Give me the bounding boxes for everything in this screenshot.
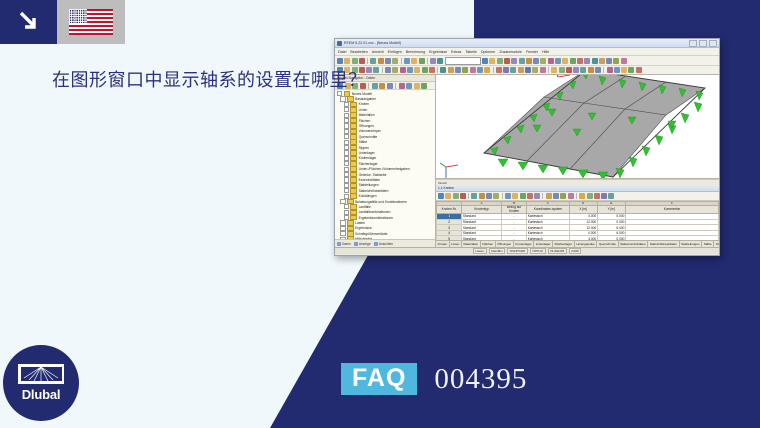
folder-icon: [350, 204, 357, 210]
tree-node-label: Flächen: [359, 119, 371, 123]
toolbar-icon[interactable]: [577, 58, 583, 64]
toolbar-icon[interactable]: [621, 67, 627, 73]
table-tab[interactable]: Stabnichtlinearitäten: [648, 241, 679, 247]
tree-node-label: Lastfallkombinationen: [359, 210, 391, 214]
table-tab[interactable]: Liniengelenke: [575, 241, 598, 247]
close-button[interactable]: [709, 40, 717, 47]
slide-canvas: 在图形窗口中显示轴系的设置在哪里？ RFEM 5.22.01.xxx - [Ne…: [0, 0, 760, 428]
tree-node-label: Basisangaben: [355, 97, 376, 101]
toolbar-icon[interactable]: [553, 193, 559, 199]
tree-node-label: Stabteilungen: [359, 183, 379, 187]
toolbar-icon[interactable]: [559, 67, 565, 73]
toolbar-icon[interactable]: [548, 58, 554, 64]
toolbar-icon[interactable]: [504, 58, 510, 64]
toolbar-icon[interactable]: [534, 193, 540, 199]
tree-node-label: Öffnungen: [359, 124, 374, 128]
table-column-header[interactable]: Kommentar: [625, 206, 718, 214]
tree-node-label: Querschnitte: [359, 135, 378, 139]
tree-node-label: Lasten: [355, 221, 365, 225]
logo-bar-bottom: [18, 381, 64, 385]
arrow-down-right-icon: [0, 0, 57, 44]
navigator-tab-ansichten[interactable]: Ansichten: [374, 242, 393, 246]
toolbar-icon[interactable]: [352, 58, 358, 64]
toolbar-icon[interactable]: [579, 193, 585, 199]
toolbar-icon[interactable]: [379, 83, 385, 89]
toolbar-icon[interactable]: [520, 193, 526, 199]
menu-item[interactable]: Datei: [338, 50, 346, 54]
toolbar-icon[interactable]: [533, 58, 539, 64]
table-tab[interactable]: Öffnungen: [496, 241, 514, 247]
toolbar-separator: [603, 67, 604, 73]
statusbar-item[interactable]: Max/Min: [489, 248, 505, 255]
toolbar-separator: [493, 67, 494, 73]
flag-canton: [69, 9, 87, 23]
minimize-button[interactable]: [689, 40, 697, 47]
toolbar-separator: [382, 67, 383, 73]
tree-node-label: Rippen: [359, 146, 369, 150]
toolbar-icon[interactable]: [486, 193, 492, 199]
toolbar-separator: [367, 58, 368, 64]
table-column-header[interactable]: Knotentyp: [462, 206, 501, 214]
tree-node-label: Knicklängen: [359, 194, 377, 198]
toolbar-separator: [401, 58, 402, 64]
work-column: Modell 1.1 Knoten ABCDEFKnoten Nr.Knoten…: [436, 75, 719, 247]
toolbar-icon[interactable]: [595, 67, 601, 73]
slab-model-3d: [436, 75, 718, 179]
global-axis-symbol: [440, 163, 458, 179]
toolbar-icon[interactable]: [422, 67, 428, 73]
toolbar-icon[interactable]: [479, 193, 485, 199]
toolbar-icon[interactable]: [407, 67, 413, 73]
tree-node-label: Flächenlager: [359, 162, 378, 166]
table-scroll-area[interactable]: ABCDEFKnoten Nr.KnotentypBezug auf Knote…: [436, 201, 719, 240]
toolbar-icon[interactable]: [453, 193, 459, 199]
toolbar-icon[interactable]: [510, 67, 516, 73]
table-tab[interactable]: Querschnitte: [597, 241, 618, 247]
dlubal-logo: Dlubal: [3, 345, 79, 421]
toolbar-icon[interactable]: [385, 58, 391, 64]
usa-flag-icon: [57, 0, 125, 44]
table-tab[interactable]: Knoten: [436, 241, 450, 247]
toolbar-icon[interactable]: [594, 193, 600, 199]
tree-node-label: Ergebniskombinationen: [359, 216, 393, 220]
toolbar-icon[interactable]: [484, 67, 490, 73]
menu-item[interactable]: Extras: [451, 50, 461, 54]
toolbar-icon[interactable]: [505, 193, 511, 199]
flag-graphic: [69, 9, 113, 35]
toolbar-icon[interactable]: [526, 58, 532, 64]
toolbar-icon[interactable]: [366, 67, 372, 73]
toolbar-icon[interactable]: [392, 58, 398, 64]
project-navigator-panel: Projekt-Navigator - Daten Neues ModellBa…: [335, 75, 436, 247]
table-column-header[interactable]: Koordinaten-system: [527, 206, 569, 214]
table-column-header[interactable]: Y [m]: [597, 206, 625, 214]
toolbar-separator: [576, 193, 577, 199]
tree-node-label: Schnittgrößenverläufe: [355, 232, 387, 236]
tree-node-label: Linienlager: [359, 151, 375, 155]
toolbar-icon[interactable]: [414, 83, 420, 89]
toolbar-icon[interactable]: [562, 58, 568, 64]
toolbar-icon[interactable]: [378, 58, 384, 64]
app-title-text: RFEM 5.22.01.xxx - [Neues Modell]: [344, 41, 689, 45]
app-toolbar-primary[interactable]: [335, 56, 719, 66]
toolbar-icon[interactable]: [406, 83, 412, 89]
menu-item[interactable]: Ansicht: [372, 50, 384, 54]
toolbar-icon[interactable]: [588, 67, 594, 73]
statusbar-item[interactable]: SNAP/GRD: [507, 248, 528, 255]
toolbar-icon[interactable]: [621, 58, 627, 64]
toolbar-separator: [427, 58, 428, 64]
toolbar-icon[interactable]: [359, 58, 365, 64]
rfem-application-window: RFEM 5.22.01.xxx - [Neues Modell] Datei …: [334, 38, 720, 256]
tree-node-label: Materialien: [359, 113, 375, 117]
table-tabs[interactable]: KnotenLinienMaterialienFlächenÖffnungenK…: [436, 240, 719, 247]
table-toolbar[interactable]: [436, 192, 719, 201]
toolbar-icon[interactable]: [370, 58, 376, 64]
app-body: Projekt-Navigator - Daten Neues ModellBa…: [335, 75, 719, 247]
faq-badge-row: FAQ 004395: [341, 363, 527, 395]
toolbar-icon[interactable]: [511, 58, 517, 64]
menu-item[interactable]: Hilfe: [542, 50, 549, 54]
toolbar-icon[interactable]: [399, 83, 405, 89]
toolbar-icon[interactable]: [512, 193, 518, 199]
toolbar-icon[interactable]: [497, 58, 503, 64]
toolbar-icon[interactable]: [551, 67, 557, 73]
folder-icon: [350, 177, 357, 183]
menu-item[interactable]: Bearbeiten: [350, 50, 367, 54]
toolbar-icon[interactable]: [404, 58, 410, 64]
tree-node-label: Gelenke, Stabseite: [359, 173, 387, 177]
table-tab[interactable]: Linien: [450, 241, 462, 247]
toolbar-icon[interactable]: [470, 67, 476, 73]
table-tab[interactable]: Stabteilungen: [680, 241, 703, 247]
toolbar-icon[interactable]: [460, 193, 466, 199]
toolbar-icon[interactable]: [518, 67, 524, 73]
toolbar-icon[interactable]: [527, 193, 533, 199]
toolbar-icon[interactable]: [613, 58, 619, 64]
toolbar-icon[interactable]: [573, 67, 579, 73]
rfem-app-icon: [337, 41, 342, 46]
toolbar-icon[interactable]: [400, 67, 406, 73]
table-tab[interactable]: Flächenlager: [553, 241, 575, 247]
tree-node-label: Knotenlager: [359, 156, 377, 160]
toolbar-icon[interactable]: [385, 67, 391, 73]
toolbar-icon[interactable]: [421, 83, 427, 89]
navigator-footer-tabs[interactable]: Daten Anzeige Ansichten: [335, 239, 435, 247]
toolbar-icon[interactable]: [607, 67, 613, 73]
toolbar-icon[interactable]: [392, 67, 398, 73]
toolbar-icon[interactable]: [430, 58, 436, 64]
toolbar-icon[interactable]: [477, 67, 483, 73]
toolbar-icon[interactable]: [584, 58, 590, 64]
toolbar-icon[interactable]: [555, 58, 561, 64]
toolbar-icon[interactable]: [560, 193, 566, 199]
toolbar-icon[interactable]: [606, 58, 612, 64]
toolbar-icon[interactable]: [455, 67, 461, 73]
toolbar-icon[interactable]: [532, 67, 538, 73]
statusbar-item[interactable]: ORTHO: [530, 248, 546, 255]
tree-node-label: Stabnichtlinearitäten: [359, 189, 389, 193]
toolbar-icon[interactable]: [493, 193, 499, 199]
navigator-tab-daten[interactable]: Daten: [337, 242, 351, 246]
toolbar-separator: [368, 83, 369, 89]
tree-node-label: Ergebnisse: [355, 226, 372, 230]
toolbar-icon[interactable]: [546, 193, 552, 199]
tree-node-label: Exzentrizitäten: [359, 178, 381, 182]
tree-node-label: Neues Modell: [352, 92, 372, 96]
toolbar-icon[interactable]: [540, 58, 546, 64]
toolbar-separator: [437, 67, 438, 73]
menu-item[interactable]: Fenster: [526, 50, 538, 54]
menu-item[interactable]: Optionen: [481, 50, 496, 54]
faq-label: FAQ: [341, 363, 417, 395]
toolbar-icon[interactable]: [387, 83, 393, 89]
toolbar-icon[interactable]: [587, 193, 593, 199]
toolbar-icon[interactable]: [580, 67, 586, 73]
toolbar-icon[interactable]: [462, 67, 468, 73]
toolbar-icon[interactable]: [372, 83, 378, 89]
anzeige-icon: [354, 242, 358, 246]
daten-icon: [337, 242, 341, 246]
toolbar-icon[interactable]: [636, 67, 642, 73]
window-controls[interactable]: [689, 40, 717, 47]
table-tab[interactable]: Stabexzentrizitäten: [619, 241, 649, 247]
toolbar-icon[interactable]: [445, 193, 451, 199]
table-tab[interactable]: Stabteilungen: [714, 241, 719, 247]
tree-node-label: Belastungsfälle und Kombinationen: [355, 200, 407, 204]
toolbar-icon[interactable]: [599, 58, 605, 64]
app-statusbar[interactable]: LastenMax/MinSNAP/GRDORTHOOLINE/OBGRID: [335, 247, 719, 254]
toolbar-icon[interactable]: [628, 67, 634, 73]
app-titlebar: RFEM 5.22.01.xxx - [Neues Modell]: [335, 39, 719, 48]
toolbar-icon[interactable]: [608, 193, 614, 199]
menu-item[interactable]: Tabelle: [465, 50, 476, 54]
toolbar-separator: [502, 193, 503, 199]
table-column-header[interactable]: Knoten Nr.: [437, 206, 462, 214]
coordinate-axis-triad: [556, 75, 570, 77]
toolbar-icon[interactable]: [440, 67, 446, 73]
table-header-row: Knoten Nr.KnotentypBezug auf KnotenKoord…: [437, 206, 719, 214]
graphics-window[interactable]: [436, 75, 719, 179]
toolbar-icon[interactable]: [429, 67, 435, 73]
table-title: 1.1 Knoten: [436, 185, 719, 192]
statusbar-item[interactable]: OLINE/OB: [548, 248, 567, 255]
toolbar-icon[interactable]: [419, 58, 425, 64]
ansichten-icon: [374, 242, 378, 246]
navigator-tree[interactable]: Neues ModellBasisangabenKnotenLinienMate…: [335, 90, 435, 239]
toolbar-icon[interactable]: [570, 58, 576, 64]
statusbar-item[interactable]: GRID: [569, 248, 582, 255]
menu-item[interactable]: Ergebnisse: [429, 50, 447, 54]
toolbar-separator: [548, 67, 549, 73]
tree-node-label: Stäbe: [359, 140, 368, 144]
toolbar-icon[interactable]: [373, 67, 379, 73]
toolbar-icon[interactable]: [438, 193, 444, 199]
toolbar-icon[interactable]: [482, 58, 488, 64]
toolbar-icon[interactable]: [496, 67, 502, 73]
table-column-header[interactable]: Bezug auf Knoten: [501, 206, 526, 214]
navigator-tab-anzeige[interactable]: Anzeige: [354, 242, 371, 246]
logo-cable-lines: [20, 366, 62, 381]
tree-node-label: Lastfälle: [359, 205, 371, 209]
menu-item[interactable]: Berechnung: [406, 50, 425, 54]
table-tab[interactable]: Stäbe: [702, 241, 714, 247]
table-column-header[interactable]: X [m]: [569, 206, 597, 214]
toolbar-icon[interactable]: [337, 58, 343, 64]
toolbar-icon[interactable]: [471, 193, 477, 199]
toolbar-icon[interactable]: [414, 67, 420, 73]
maximize-button[interactable]: [699, 40, 707, 47]
toolbar-icon[interactable]: [592, 58, 598, 64]
toolbar-separator: [468, 193, 469, 199]
tree-node-label: Volumenkörper: [359, 129, 381, 133]
toolbar-icon[interactable]: [519, 58, 525, 64]
menu-item[interactable]: Zusatzmodule: [499, 50, 522, 54]
toolbar-icon[interactable]: [614, 67, 620, 73]
table-panel: 1.1 Knoten ABCDEFKnoten Nr.KnotentypBezu…: [436, 185, 719, 247]
dlubal-truss-bridge-icon: [18, 364, 64, 384]
nodes-table[interactable]: ABCDEFKnoten Nr.KnotentypBezug auf Knote…: [436, 201, 719, 240]
tree-node-label: Knoten: [359, 102, 369, 106]
toolbar-icon[interactable]: [503, 67, 509, 73]
toolbar-icon[interactable]: [437, 58, 443, 64]
toolbar-icon[interactable]: [448, 67, 454, 73]
page-title: 在图形窗口中显示轴系的设置在哪里？: [52, 66, 367, 92]
faq-number: 004395: [434, 365, 527, 394]
toolbar-icon[interactable]: [568, 193, 574, 199]
tree-node-label: Linien-/Flächen-/Volumenfreigaben: [359, 167, 410, 171]
toolbar-icon[interactable]: [489, 58, 495, 64]
app-menubar[interactable]: Datei Bearbeiten Ansicht Einfügen Berech…: [335, 48, 719, 56]
toolbar-separator: [542, 193, 543, 199]
tree-node-label: Linien: [359, 108, 368, 112]
table-tab[interactable]: Flächen: [481, 241, 496, 247]
table-tab[interactable]: Knotenlager: [514, 241, 534, 247]
dlubal-logo-text: Dlubal: [22, 387, 61, 402]
folder-icon: [350, 150, 357, 156]
toolbar-icon[interactable]: [566, 67, 572, 73]
toolbar-separator: [395, 83, 396, 89]
app-toolbar-secondary[interactable]: [335, 66, 719, 75]
toolbar-icon[interactable]: [601, 193, 607, 199]
corner-badges: [0, 0, 125, 44]
toolbar-icon[interactable]: [540, 67, 546, 73]
loadcase-combo[interactable]: [445, 57, 481, 65]
toolbar-icon[interactable]: [525, 67, 531, 73]
table-tab[interactable]: Materialien: [462, 241, 481, 247]
menu-item[interactable]: Einfügen: [388, 50, 402, 54]
statusbar-item[interactable]: Lasten: [473, 248, 487, 255]
toolbar-icon[interactable]: [344, 58, 350, 64]
table-tab[interactable]: Linienlager: [534, 241, 553, 247]
toolbar-icon[interactable]: [411, 58, 417, 64]
